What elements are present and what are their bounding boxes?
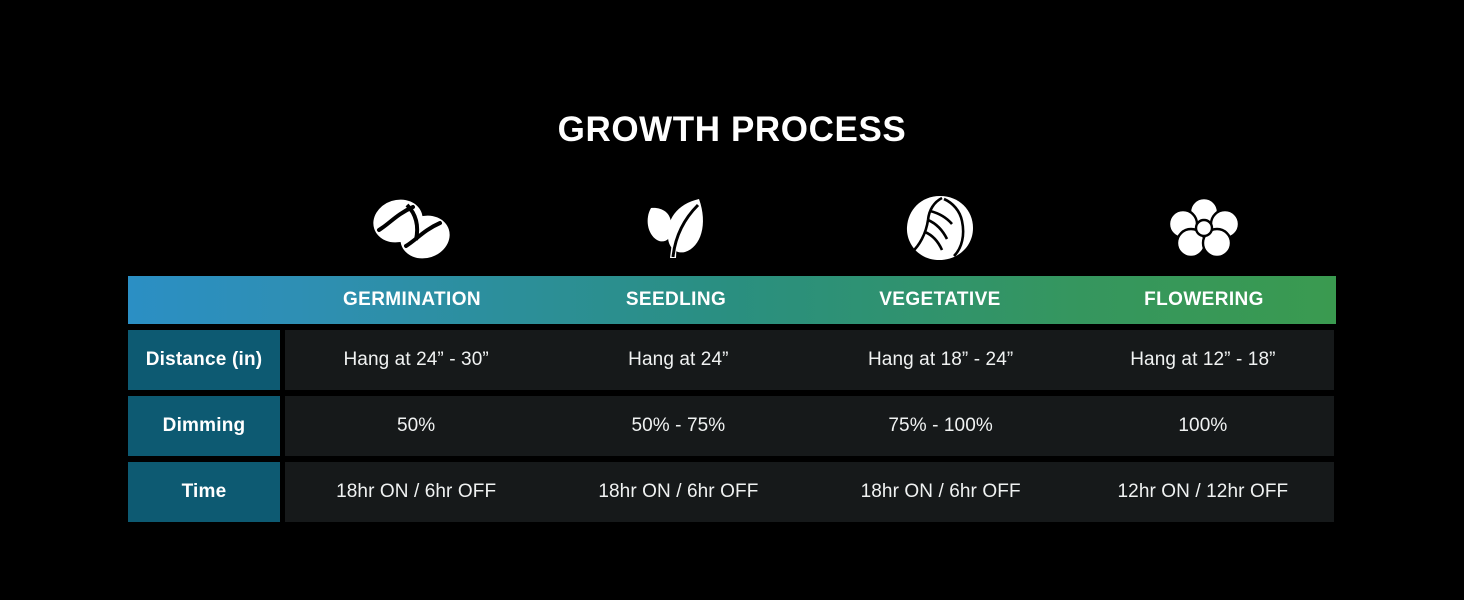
cabbage-icon xyxy=(904,194,976,262)
cell-distance-germination: Hang at 24” - 30” xyxy=(285,330,547,390)
table-row: Dimming 50% 50% - 75% 75% - 100% 100% xyxy=(128,396,1334,456)
cell-time-flowering: 12hr ON / 12hr OFF xyxy=(1072,462,1334,522)
row-cells-time: 18hr ON / 6hr OFF 18hr ON / 6hr OFF 18hr… xyxy=(285,462,1334,522)
cell-time-germination: 18hr ON / 6hr OFF xyxy=(285,462,547,522)
icon-row-spacer xyxy=(128,180,280,276)
icon-cells xyxy=(280,180,1336,276)
stage-icon-row xyxy=(128,180,1336,276)
cell-distance-vegetative: Hang at 18” - 24” xyxy=(810,330,1072,390)
cell-time-vegetative: 18hr ON / 6hr OFF xyxy=(810,462,1072,522)
row-label-distance: Distance (in) xyxy=(128,330,280,390)
row-label-dimming: Dimming xyxy=(128,396,280,456)
leaf-icon xyxy=(639,194,713,262)
stage-icon-cell-vegetative xyxy=(808,180,1072,276)
page-title: GROWTH PROCESS xyxy=(0,108,1464,152)
cell-time-seedling: 18hr ON / 6hr OFF xyxy=(547,462,809,522)
stage-header-flowering: FLOWERING xyxy=(1072,276,1336,324)
growth-process-infographic: GROWTH PROCESS xyxy=(0,0,1464,600)
stage-icon-cell-germination xyxy=(280,180,544,276)
growth-process-table: GERMINATION SEEDLING VEGETATIVE FLOWERIN… xyxy=(128,180,1336,522)
seeds-icon xyxy=(367,196,457,260)
table-row: Time 18hr ON / 6hr OFF 18hr ON / 6hr OFF… xyxy=(128,462,1334,522)
header-cells: GERMINATION SEEDLING VEGETATIVE FLOWERIN… xyxy=(280,276,1336,324)
row-cells-dimming: 50% 50% - 75% 75% - 100% 100% xyxy=(285,396,1334,456)
header-row-spacer xyxy=(128,276,280,324)
cell-distance-seedling: Hang at 24” xyxy=(547,330,809,390)
cell-dimming-flowering: 100% xyxy=(1072,396,1334,456)
row-cells-distance: Hang at 24” - 30” Hang at 24” Hang at 18… xyxy=(285,330,1334,390)
cell-dimming-germination: 50% xyxy=(285,396,547,456)
stage-header-germination: GERMINATION xyxy=(280,276,544,324)
cell-dimming-vegetative: 75% - 100% xyxy=(810,396,1072,456)
cell-distance-flowering: Hang at 12” - 18” xyxy=(1072,330,1334,390)
stage-icon-cell-seedling xyxy=(544,180,808,276)
row-label-time: Time xyxy=(128,462,280,522)
cell-dimming-seedling: 50% - 75% xyxy=(547,396,809,456)
stage-header-vegetative: VEGETATIVE xyxy=(808,276,1072,324)
table-row: Distance (in) Hang at 24” - 30” Hang at … xyxy=(128,330,1334,390)
stage-header-seedling: SEEDLING xyxy=(544,276,808,324)
stage-header-row: GERMINATION SEEDLING VEGETATIVE FLOWERIN… xyxy=(128,276,1336,324)
stage-icon-cell-flowering xyxy=(1072,180,1336,276)
flower-icon xyxy=(1170,197,1238,259)
